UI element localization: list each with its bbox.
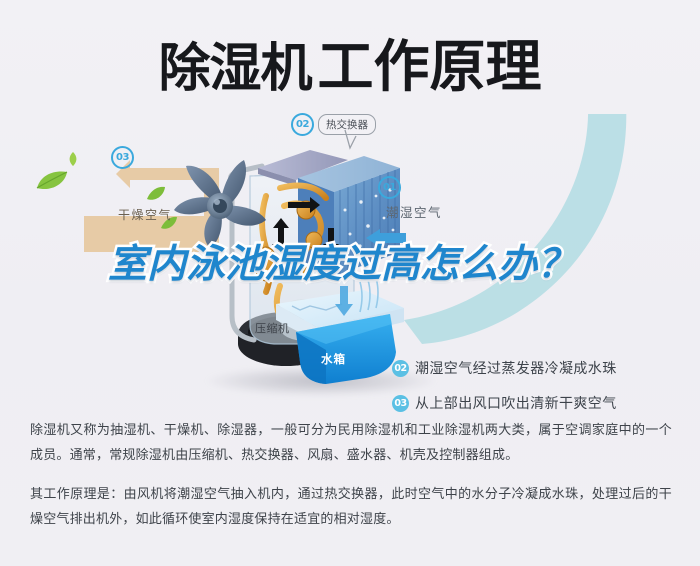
leaf-icon-small <box>67 152 79 166</box>
infographic-page: 除湿机工作原理 <box>0 0 700 566</box>
label-dry-air: 干燥空气 <box>118 206 172 223</box>
legend-item-02-label: 潮湿空气经过蒸发器冷凝成水珠 <box>415 358 617 378</box>
page-title-part1: 除湿机 <box>158 39 311 99</box>
label-water-tank: 水箱 <box>321 351 346 367</box>
airflow-swoosh-arc <box>398 114 638 344</box>
overlay-headline: 室内泳池湿度过高怎么办？ <box>108 243 688 287</box>
fan-blades-icon <box>170 156 270 251</box>
body-paragraph-2: 其工作原理是：由风机将潮湿空气抽入机内，通过热交换器，此时空气中的水分子冷凝成水… <box>30 482 672 532</box>
badge-02-diagram: 02 <box>291 113 314 136</box>
legend-item-03: 03 从上部出风口吹出清新干爽空气 <box>392 393 692 413</box>
badge-02-legend: 02 <box>392 360 409 377</box>
body-copy: 除湿机又称为抽湿机、干燥机、除湿器，一般可分为民用除湿机和工业除湿机两大类，属于… <box>30 418 672 546</box>
legend-item-03-label: 从上部出风口吹出清新干爽空气 <box>415 393 617 413</box>
badge-03-diagram: 03 <box>111 146 134 169</box>
label-compressor: 压缩机 <box>255 320 290 336</box>
leaf-icon-large <box>35 170 69 192</box>
page-title: 除湿机工作原理 <box>0 22 700 103</box>
page-title-part2: 工作原理 <box>318 35 542 100</box>
badge-01-diagram: 01 <box>378 176 401 199</box>
legend-item-02: 02 潮湿空气经过蒸发器冷凝成水珠 <box>392 358 692 378</box>
leaf-icon-mid <box>146 186 166 202</box>
body-paragraph-1: 除湿机又称为抽湿机、干燥机、除湿器，一般可分为民用除湿机和工业除湿机两大类，属于… <box>30 418 672 468</box>
badge-03-legend: 03 <box>392 395 409 412</box>
label-wet-air: 潮湿空气 <box>386 202 442 221</box>
